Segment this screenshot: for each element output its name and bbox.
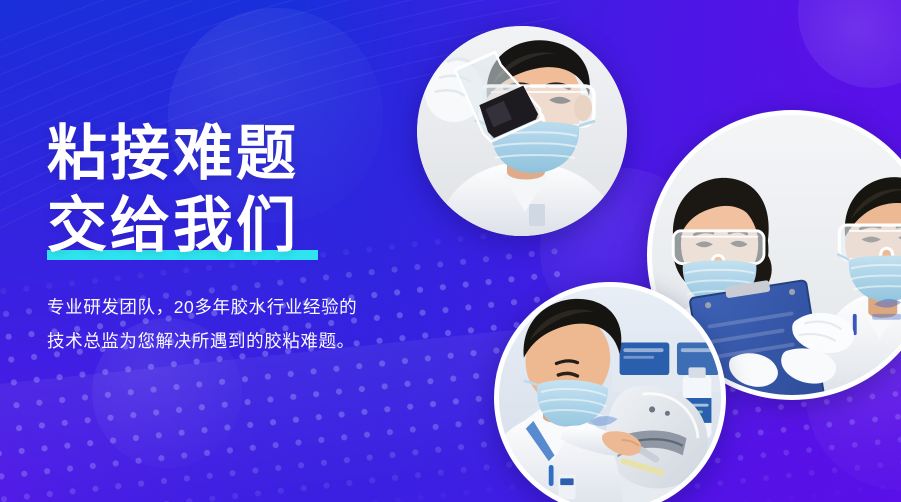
promotional-banner: 粘接难题 交给我们 专业研发团队，20多年胶水行业经验的 技术总监为您解决所遇到… bbox=[0, 0, 901, 502]
headline-line-1: 粘接难题 bbox=[47, 118, 447, 190]
subcopy-line-1: 专业研发团队，20多年胶水行业经验的 bbox=[47, 290, 447, 324]
photo-technician-applying-adhesive bbox=[494, 282, 726, 502]
subcopy-line-2: 技术总监为您解决所遇到的胶粘难题。 bbox=[47, 324, 447, 358]
headline-line-2: 交给我们 bbox=[47, 190, 447, 262]
soft-circle-decoration bbox=[798, 0, 901, 88]
photo-scientist-holding-beaker bbox=[417, 26, 627, 236]
banner-copy-block: 粘接难题 交给我们 专业研发团队，20多年胶水行业经验的 技术总监为您解决所遇到… bbox=[47, 118, 447, 358]
